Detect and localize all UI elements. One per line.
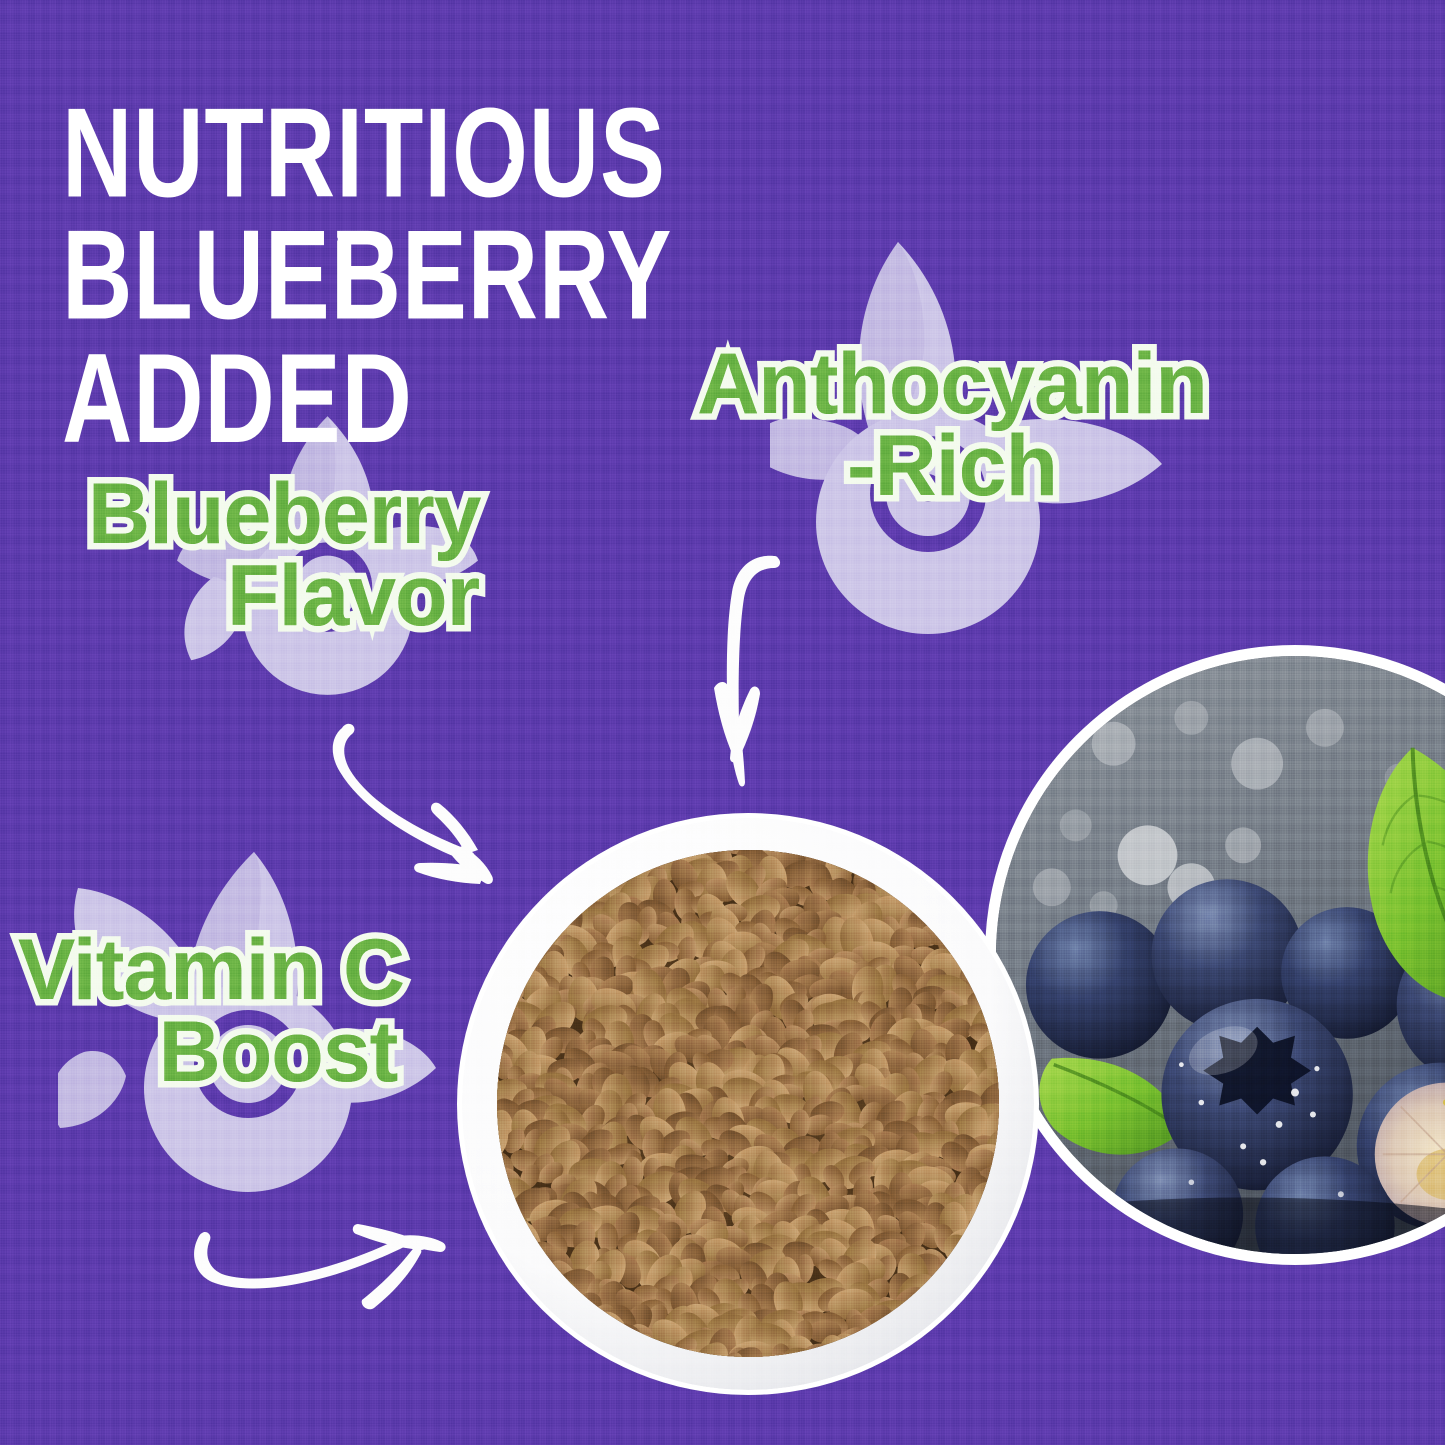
curved-arrow-icon xyxy=(162,1192,454,1334)
curved-arrow-icon xyxy=(300,712,536,892)
fresh-blueberries-photo xyxy=(985,645,1445,1265)
label-blueberry-flavor: Blueberry Flavor xyxy=(88,474,618,637)
curved-arrow-icon xyxy=(644,544,840,794)
label-blueberry-flavor-line2-fill: Flavor xyxy=(88,556,618,638)
label-blueberry-flavor-line1-fill: Blueberry xyxy=(88,474,618,556)
infographic-canvas: Nutritious Blueberry Added xyxy=(0,0,1445,1445)
label-anthocyanin-line2-fill: -Rich xyxy=(612,426,1292,508)
bowl-interior xyxy=(497,850,998,1357)
label-anthocyanin-line1-fill: Anthocyanin xyxy=(612,344,1292,426)
label-vitamin-c-line2-fill: Boost xyxy=(18,1012,538,1094)
label-vitamin-c-line1-fill: Vitamin C xyxy=(18,930,538,1012)
label-anthocyanin-rich: Anthocyanin -Rich xyxy=(612,344,1292,507)
headline-line-1: Nutritious Blueberry xyxy=(62,92,1188,337)
label-vitamin-c-boost: Vitamin C Boost xyxy=(18,930,538,1093)
kibble-bowl-photo xyxy=(462,818,1034,1390)
